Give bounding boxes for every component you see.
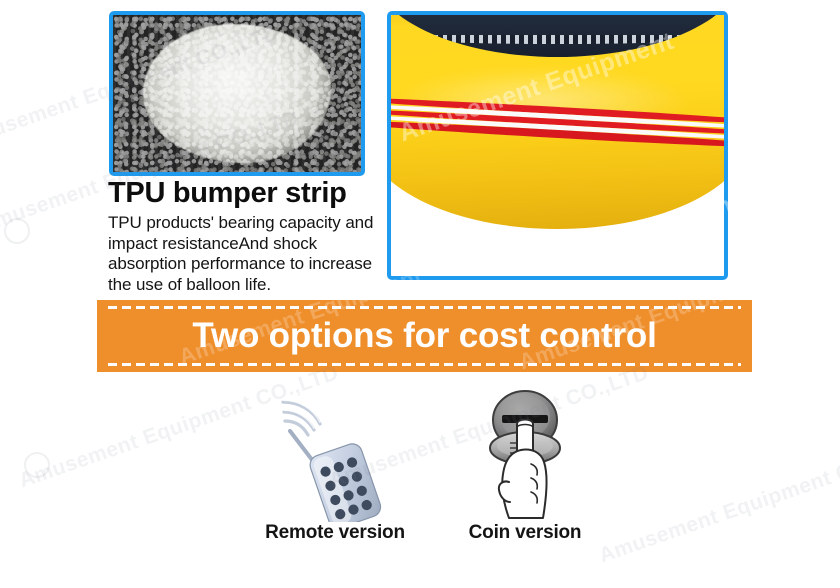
banner-dashed-line-top (108, 306, 741, 309)
banner-dashed-line-bottom (108, 363, 741, 366)
tpu-heading: TPU bumper strip (108, 176, 398, 210)
options-row: Remote version (250, 390, 610, 570)
coin-insert-hand-icon (440, 390, 610, 522)
watermark-logo-icon (4, 218, 30, 244)
banner-title: Two options for cost control (97, 317, 752, 355)
option-coin-label: Coin version (440, 522, 610, 544)
tpu-text-block: TPU bumper strip TPU products' bearing c… (108, 176, 398, 295)
yellow-bumper-boat-photo (387, 11, 728, 280)
boat-scene (391, 15, 724, 276)
option-coin-version: Coin version (440, 390, 610, 544)
pellets-grain-texture (113, 15, 361, 172)
watermark-logo-icon (24, 452, 50, 478)
watermark-text: Amusement Equipment CO.,LTD (596, 436, 840, 568)
option-remote-version: Remote version (250, 390, 420, 544)
remote-control-icon (250, 390, 420, 522)
tpu-description: TPU products' bearing capacity and impac… (108, 213, 398, 295)
cost-control-banner: Two options for cost control (97, 300, 752, 372)
option-remote-label: Remote version (250, 522, 420, 544)
tpu-pellets-photo (109, 11, 365, 176)
